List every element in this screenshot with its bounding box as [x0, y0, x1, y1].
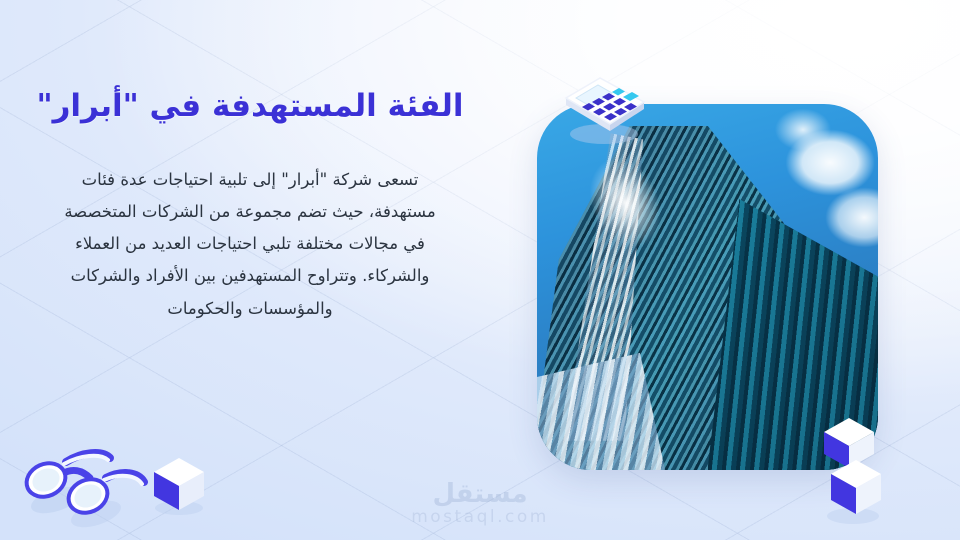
slide-canvas: الفئة المستهدفة في "أبرار" تسعى شركة "أب… [0, 0, 960, 540]
cube-icon [148, 452, 210, 518]
body-paragraph: تسعى شركة "أبرار" إلى تلبية احتياجات عدة… [30, 164, 470, 325]
glasses-icon [18, 438, 158, 528]
stacked-cubes-icon [818, 416, 888, 528]
watermark-arabic-text: مستقل [432, 481, 527, 507]
text-column: الفئة المستهدفة في "أبرار" تسعى شركة "أب… [30, 86, 470, 325]
page-title: الفئة المستهدفة في "أبرار" [30, 86, 470, 128]
watermark-latin-text: mostaql.com [411, 509, 549, 526]
calculator-icon [556, 64, 652, 148]
